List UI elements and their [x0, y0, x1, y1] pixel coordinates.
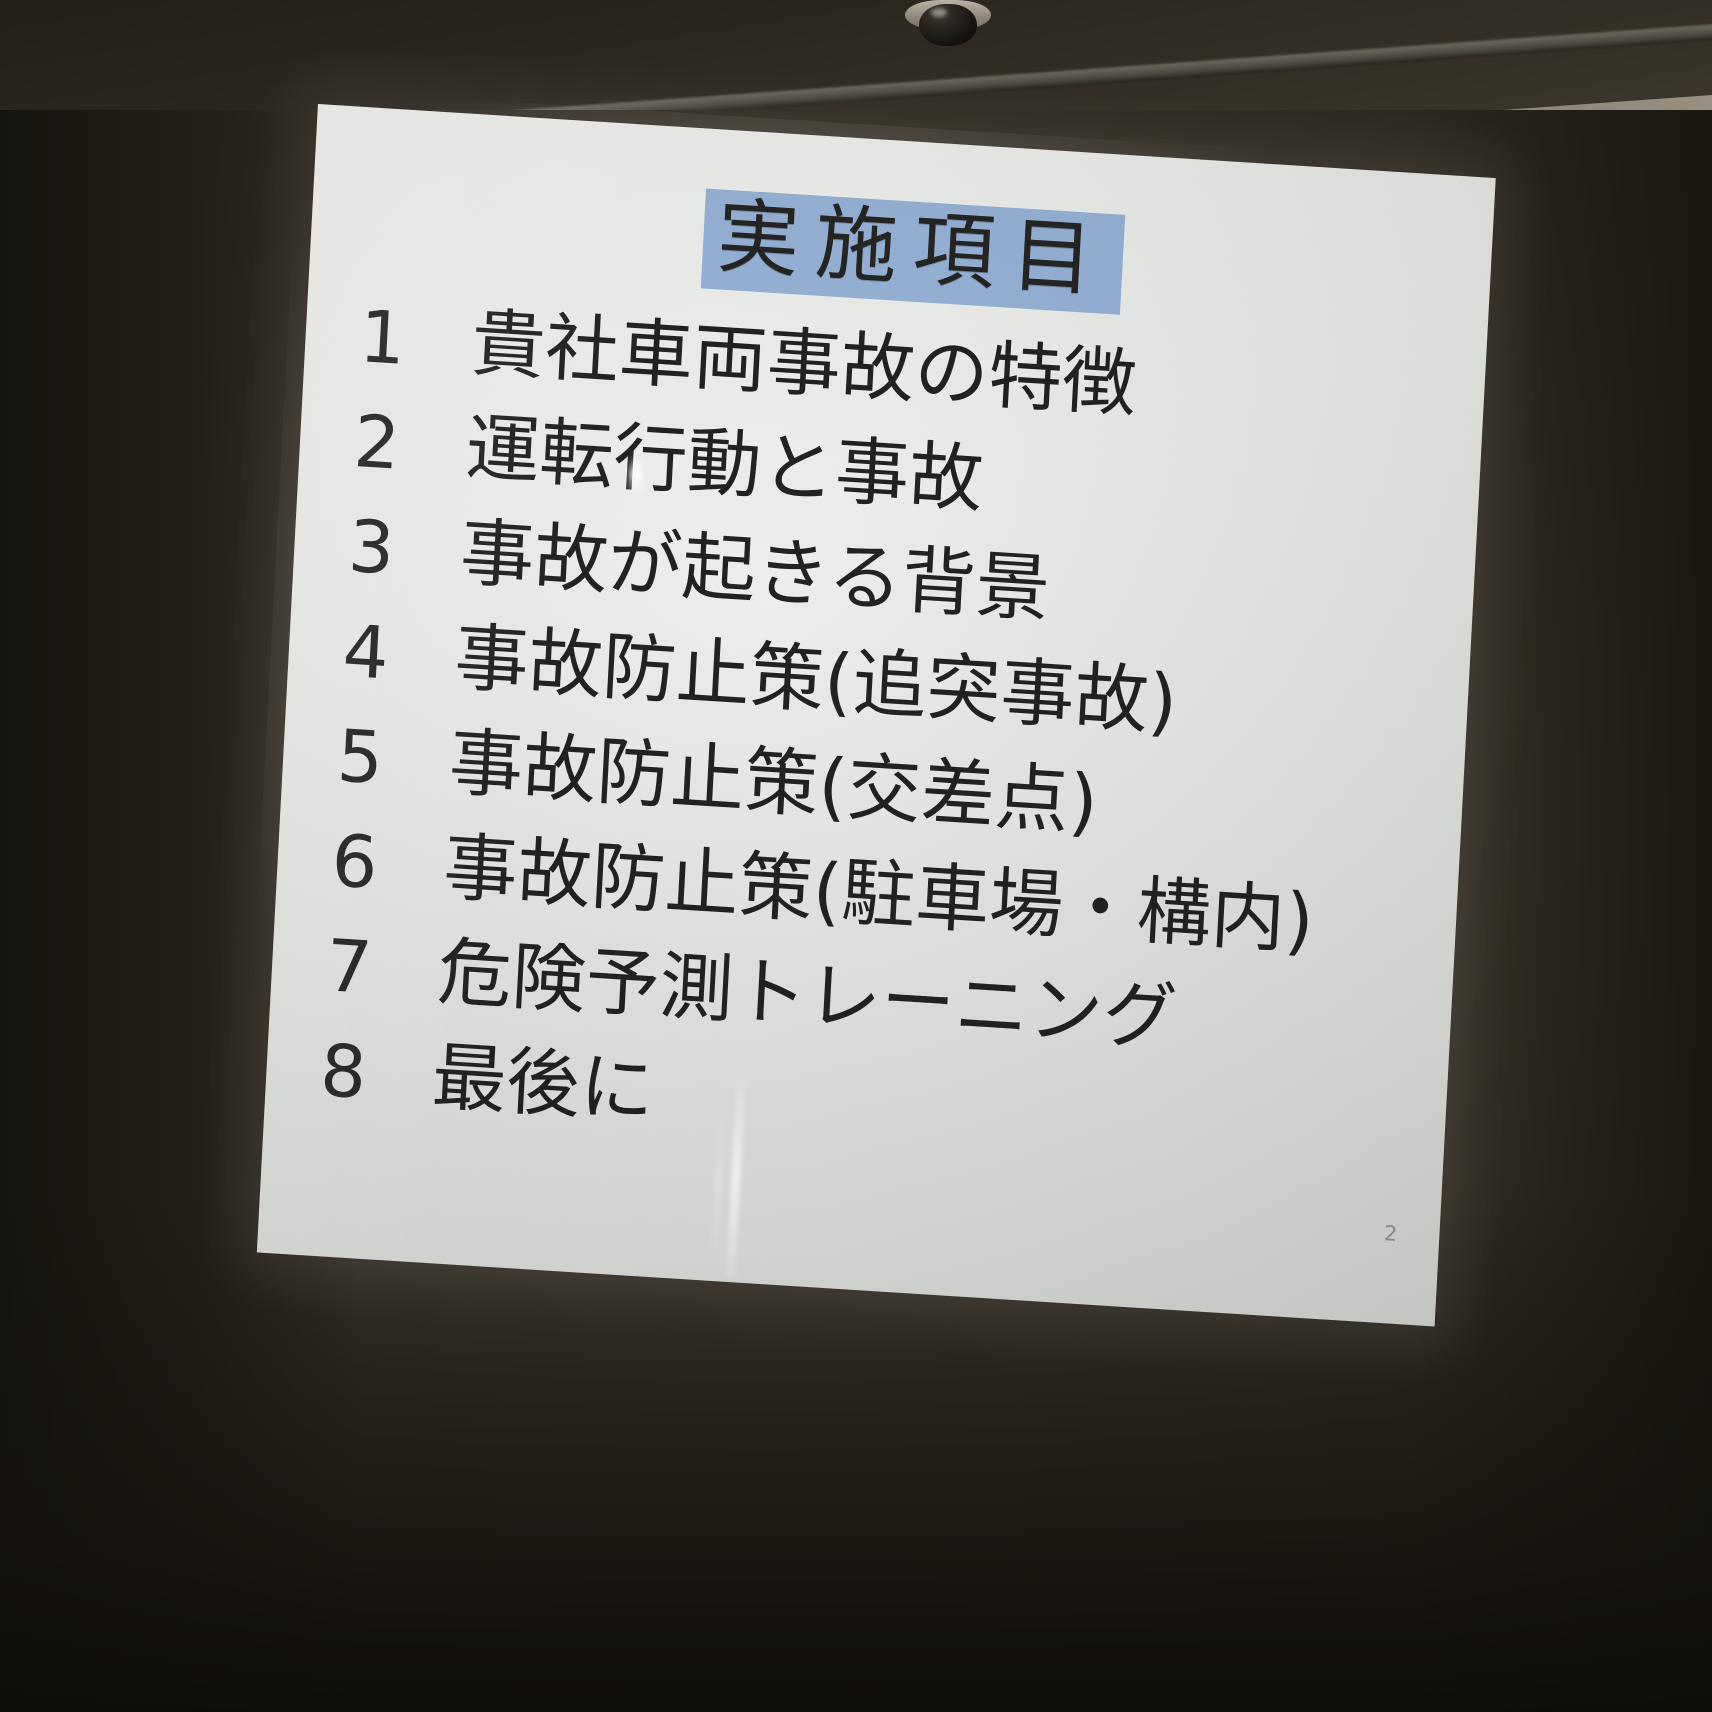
list-item-number: 1 [340, 299, 474, 379]
smoke-detector-glint [931, 8, 947, 17]
list-item-label: 最後に [430, 1040, 656, 1128]
title-highlight-box: 実施項目 [701, 189, 1126, 315]
list-item-number: 8 [301, 1033, 435, 1113]
presentation-room-scene: 実施項目 1 貴社車両事故の特徴 2 運転行動と事故 3 事故が起きる背景 4 [0, 0, 1712, 1712]
agenda-list: 1 貴社車両事故の特徴 2 運転行動と事故 3 事故が起きる背景 4 事故防止策… [299, 298, 1481, 1208]
list-item-number: 3 [329, 509, 463, 589]
list-item-number: 6 [312, 823, 446, 903]
slide-page-number: 2 [1383, 1221, 1398, 1246]
list-item-number: 4 [323, 614, 457, 694]
projected-slide: 実施項目 1 貴社車両事故の特徴 2 運転行動と事故 3 事故が起きる背景 4 [257, 104, 1496, 1326]
list-item-number: 5 [317, 718, 451, 798]
list-item-number: 7 [306, 928, 440, 1008]
list-item-number: 2 [334, 404, 468, 484]
smoke-detector-dome [919, 4, 977, 46]
page-title: 実施項目 [715, 196, 1111, 302]
smoke-detector-icon [905, 0, 991, 52]
slide-surface: 実施項目 1 貴社車両事故の特徴 2 運転行動と事故 3 事故が起きる背景 4 [257, 104, 1496, 1326]
